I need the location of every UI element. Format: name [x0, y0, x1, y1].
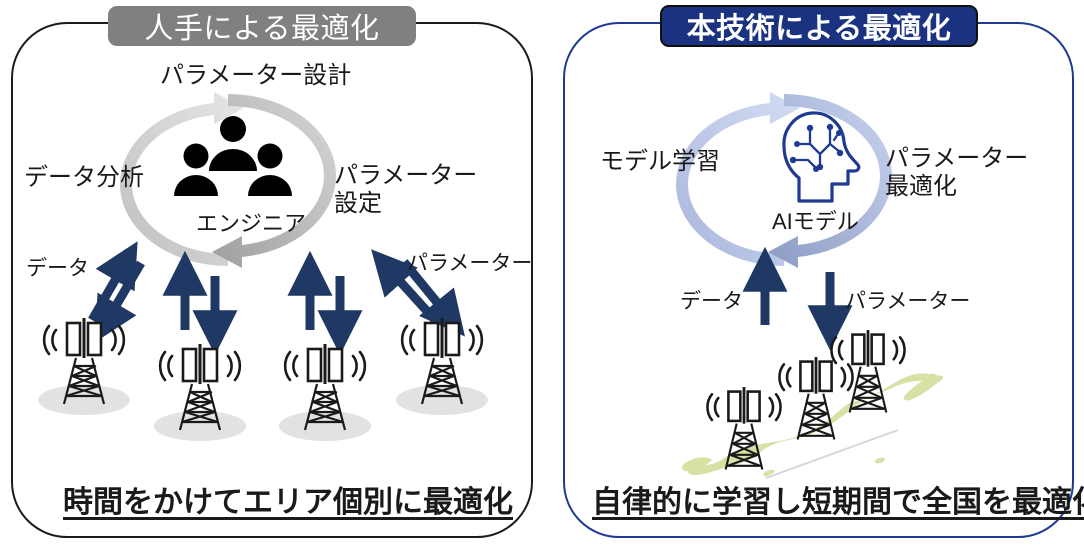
left-cycle-left-label: データ分析: [24, 164, 144, 192]
ai-brain-head-icon: [772, 108, 868, 208]
right-cycle-left-label: モデル学習: [600, 148, 720, 176]
cell-tower-icon: [152, 342, 248, 442]
engineers-label: エンジニア: [196, 206, 306, 238]
cell-tower-icon: [824, 328, 912, 420]
right-cycle-right-label-line1: パラメーター: [885, 145, 1028, 173]
left-parameter-arrow-label: パラメーター: [407, 247, 532, 277]
cell-tower-icon: [394, 316, 490, 416]
engineers-icon: [173, 113, 293, 203]
cell-tower-icon: [36, 316, 132, 416]
right-panel-badge: 本技術による最適化: [660, 5, 978, 47]
left-data-arrow-label: データ: [26, 252, 89, 282]
left-panel-badge: 人手による最適化: [108, 6, 416, 46]
left-cycle-right-label-line2: 設定: [334, 190, 477, 218]
right-parameter-arrow-label: パラメーター: [845, 285, 970, 315]
right-cycle-right-label-line2: 最適化: [885, 173, 1028, 201]
left-cycle-top-label: パラメーター設計: [160, 62, 351, 90]
left-cycle-right-label-line1: パラメーター: [334, 162, 477, 190]
cell-tower-icon: [277, 342, 373, 442]
left-cycle-right-label: パラメーター 設定: [334, 162, 477, 217]
right-panel-caption: 自律的に学習し短期間で全国を最適化: [592, 477, 1084, 521]
left-panel-caption: 時間をかけてエリア個別に最適化: [63, 477, 513, 521]
ai-model-label: AIモデル: [772, 204, 859, 236]
figure-canvas: パラメーター設計 データ分析 パラメーター 設定 エンジニア 人手による最適化: [0, 0, 1084, 549]
right-data-arrow-label: データ: [680, 285, 743, 315]
right-cycle-right-label: パラメーター 最適化: [885, 145, 1028, 200]
